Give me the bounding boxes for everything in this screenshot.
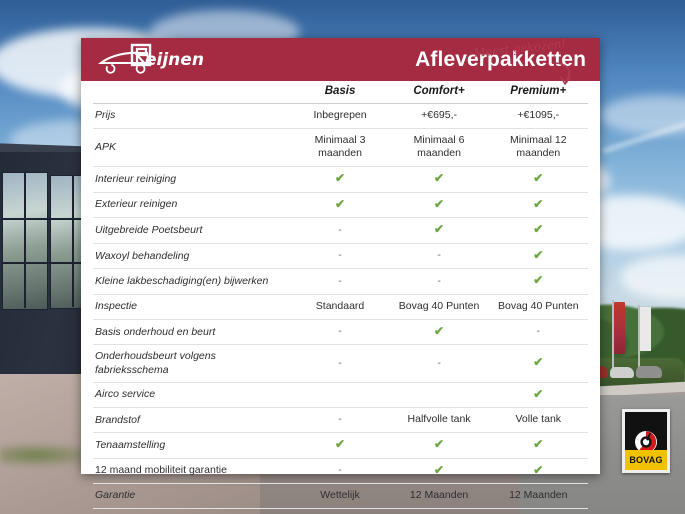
- row-label: APK: [93, 128, 290, 166]
- dash-mark: -: [338, 325, 342, 337]
- table-row: GarantieWettelijk12 Maanden12 Maanden: [93, 484, 588, 509]
- row-label: Inspectie: [93, 295, 290, 320]
- check-icon: ✔: [434, 464, 444, 476]
- cell-comfort: -: [390, 345, 489, 382]
- check-icon: ✔: [533, 223, 543, 235]
- row-label: Tenaamstelling: [93, 432, 290, 458]
- cell-premium: Volle tank: [489, 408, 588, 433]
- row-label: Prijs: [93, 104, 290, 129]
- column-header-premium: Premium+: [489, 81, 588, 104]
- banner-flag: [614, 302, 625, 354]
- cell-premium: +€1095,-: [489, 104, 588, 129]
- reijnen-logo[interactable]: eijnen: [97, 43, 217, 77]
- check-icon: ✔: [335, 198, 345, 210]
- cell-comfort: [390, 382, 489, 408]
- table-row: Exterieur reinigen✔✔✔: [93, 192, 588, 218]
- bovag-seal-icon: BOVAG: [622, 409, 670, 473]
- page-title: Afleverpakketten: [415, 48, 586, 72]
- cell-basis: ✔: [290, 166, 389, 192]
- cell-basis: -: [290, 319, 389, 345]
- check-icon: ✔: [434, 172, 444, 184]
- packages-table: Basis Comfort+ Premium+ PrijsInbegrepen+…: [93, 81, 588, 509]
- column-header-comfort: Comfort+: [390, 81, 489, 104]
- check-icon: ✔: [434, 438, 444, 450]
- afleverpakketten-card: eijnen Afleverpakketten Meest gekozen! B…: [81, 38, 600, 474]
- cell-basis: Inbegrepen: [290, 104, 389, 129]
- parked-car: [610, 367, 634, 378]
- dash-mark: -: [338, 249, 342, 261]
- cell-comfort: +€695,-: [390, 104, 489, 129]
- cell-comfort: -: [390, 269, 489, 295]
- cell-basis: -: [290, 269, 389, 295]
- cell-basis: Wettelijk: [290, 484, 389, 509]
- row-label: Airco service: [93, 382, 290, 408]
- window-mullion: [24, 172, 26, 308]
- check-icon: ✔: [335, 172, 345, 184]
- check-icon: ✔: [434, 223, 444, 235]
- window-mullion: [72, 175, 74, 307]
- cell-comfort: ✔: [390, 432, 489, 458]
- cell-premium: ✔: [489, 218, 588, 244]
- dash-mark: -: [437, 275, 441, 287]
- cell-comfort: ✔: [390, 166, 489, 192]
- cell-basis: -: [290, 243, 389, 269]
- table-row: Interieur reiniging✔✔✔: [93, 166, 588, 192]
- check-icon: ✔: [533, 198, 543, 210]
- cell-basis: -: [290, 408, 389, 433]
- table-row: Airco service ✔: [93, 382, 588, 408]
- cell-premium: ✔: [489, 345, 588, 382]
- table-row: Onderhoudsbeurt volgensfabrieksschema--✔: [93, 345, 588, 382]
- dash-mark: -: [338, 413, 342, 425]
- check-icon: ✔: [533, 464, 543, 476]
- dash-mark: -: [537, 325, 541, 337]
- cell-basis: -: [290, 458, 389, 484]
- table-row: Kleine lakbeschadiging(en) bijwerken--✔: [93, 269, 588, 295]
- cell-premium: Minimaal 12maanden: [489, 128, 588, 166]
- packages-table-wrap: Basis Comfort+ Premium+ PrijsInbegrepen+…: [81, 81, 600, 509]
- cell-comfort: ✔: [390, 458, 489, 484]
- table-row: PrijsInbegrepen+€695,-+€1095,-: [93, 104, 588, 129]
- dash-mark: -: [437, 249, 441, 261]
- cell-premium: ✔: [489, 382, 588, 408]
- table-row: Tenaamstelling✔✔✔: [93, 432, 588, 458]
- bovag-band: BOVAG: [625, 450, 667, 470]
- row-label: Kleine lakbeschadiging(en) bijwerken: [93, 269, 290, 295]
- table-row: APKMinimaal 3maandenMinimaal 6maandenMin…: [93, 128, 588, 166]
- row-label: Garantie: [93, 484, 290, 509]
- check-icon: ✔: [533, 356, 543, 368]
- table-row: Brandstof-Halfvolle tankVolle tank: [93, 408, 588, 433]
- table-row: InspectieStandaardBovag 40 PuntenBovag 4…: [93, 295, 588, 320]
- cell-comfort: Halfvolle tank: [390, 408, 489, 433]
- cell-premium: ✔: [489, 458, 588, 484]
- packages-table-body: Basis Comfort+ Premium+ PrijsInbegrepen+…: [93, 81, 588, 508]
- cell-premium: ✔: [489, 166, 588, 192]
- cell-comfort: 12 Maanden: [390, 484, 489, 509]
- cell-premium: ✔: [489, 269, 588, 295]
- row-label: Uitgebreide Poetsbeurt: [93, 218, 290, 244]
- dash-mark: -: [437, 357, 441, 369]
- dash-mark: -: [338, 464, 342, 476]
- check-icon: ✔: [335, 438, 345, 450]
- cell-basis: ✔: [290, 192, 389, 218]
- cell-basis: [290, 382, 389, 408]
- cell-comfort: ✔: [390, 319, 489, 345]
- dash-mark: -: [338, 224, 342, 236]
- check-icon: ✔: [533, 388, 543, 400]
- cell-basis: -: [290, 218, 389, 244]
- check-icon: ✔: [434, 198, 444, 210]
- cell-premium: -: [489, 319, 588, 345]
- row-label: 12 maand mobiliteit garantie: [93, 458, 290, 484]
- check-icon: ✔: [533, 249, 543, 261]
- cell-comfort: -: [390, 243, 489, 269]
- cell-basis: Minimaal 3maanden: [290, 128, 389, 166]
- row-label: Waxoyl behandeling: [93, 243, 290, 269]
- cell-premium: ✔: [489, 432, 588, 458]
- row-label: Basis onderhoud en beurt: [93, 319, 290, 345]
- cell-premium: ✔: [489, 192, 588, 218]
- banner-flag: [640, 307, 651, 351]
- row-label: Onderhoudsbeurt volgensfabrieksschema: [93, 345, 290, 382]
- table-header-row: Basis Comfort+ Premium+: [93, 81, 588, 104]
- cell-comfort: ✔: [390, 218, 489, 244]
- check-icon: ✔: [533, 438, 543, 450]
- table-row: Basis onderhoud en beurt-✔-: [93, 319, 588, 345]
- bovag-label: BOVAG: [629, 455, 662, 465]
- car-logo-icon: eijnen: [97, 43, 217, 77]
- column-header-basis: Basis: [290, 81, 389, 104]
- cell-basis: ✔: [290, 432, 389, 458]
- cell-comfort: ✔: [390, 192, 489, 218]
- check-icon: ✔: [533, 172, 543, 184]
- card-header: eijnen Afleverpakketten: [81, 38, 600, 81]
- cell-comfort: Minimaal 6maanden: [390, 128, 489, 166]
- cell-comfort: Bovag 40 Punten: [390, 295, 489, 320]
- svg-text:eijnen: eijnen: [145, 50, 204, 70]
- parked-car: [636, 366, 662, 378]
- row-label: Exterieur reinigen: [93, 192, 290, 218]
- cell-basis: Standaard: [290, 295, 389, 320]
- cell-premium: Bovag 40 Punten: [489, 295, 588, 320]
- row-label: Brandstof: [93, 408, 290, 433]
- header-cell-empty: [93, 81, 290, 104]
- dash-mark: -: [338, 275, 342, 287]
- dash-mark: -: [338, 357, 342, 369]
- check-icon: ✔: [533, 274, 543, 286]
- check-icon: ✔: [434, 325, 444, 337]
- table-row: Uitgebreide Poetsbeurt-✔✔: [93, 218, 588, 244]
- table-row: Waxoyl behandeling--✔: [93, 243, 588, 269]
- cell-premium: 12 Maanden: [489, 484, 588, 509]
- table-row: 12 maand mobiliteit garantie-✔✔: [93, 458, 588, 484]
- cell-basis: -: [290, 345, 389, 382]
- cell-premium: ✔: [489, 243, 588, 269]
- row-label: Interieur reiniging: [93, 166, 290, 192]
